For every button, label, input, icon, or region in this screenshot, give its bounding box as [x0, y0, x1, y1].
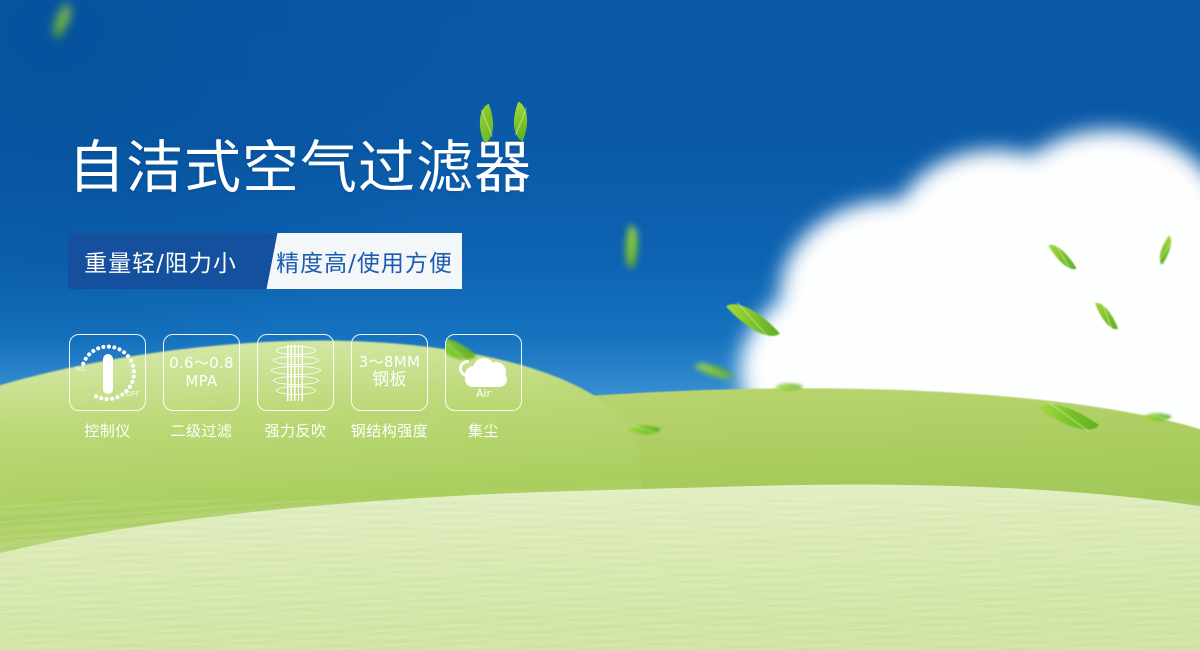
subtitle-right-segment: 精度高/使用方便 — [253, 233, 462, 289]
dial-on-label: NO — [76, 367, 86, 373]
feature-label: 控制仪 — [84, 420, 131, 441]
title-block: 自洁式空气过滤器 — [68, 140, 532, 197]
leaf-icon — [505, 102, 536, 142]
subtitle-bar: 重量轻/阻力小 精度高/使用方便 — [68, 233, 462, 289]
dial-needle-icon — [103, 354, 113, 394]
dial-gauge-icon: NO OFF — [77, 342, 139, 404]
feature-tile: NO OFF — [69, 334, 146, 411]
page-title: 自洁式空气过滤器 — [68, 140, 532, 197]
feature-item-control-dial[interactable]: NO OFF 控制仪 — [69, 334, 146, 441]
pressure-text-icon: 0.6～0.8 MPA — [169, 355, 234, 390]
steel-thickness-text-icon: 3～8MM 钢板 — [359, 354, 420, 391]
feature-label: 二级过滤 — [170, 420, 232, 441]
subtitle-left-segment: 重量轻/阻力小 — [68, 233, 253, 289]
pressure-unit: MPA — [169, 373, 234, 390]
sprout-leaves-icon — [477, 104, 537, 146]
feature-tile: Air — [445, 334, 522, 411]
feature-item-pressure[interactable]: 0.6～0.8 MPA 二级过滤 — [163, 334, 240, 441]
filter-stack-icon — [270, 345, 322, 401]
feature-item-steel[interactable]: 3～8MM 钢板 钢结构强度 — [351, 334, 428, 441]
grass-field — [0, 470, 1200, 650]
feature-tile: 3～8MM 钢板 — [351, 334, 428, 411]
feature-label: 钢结构强度 — [351, 420, 429, 441]
filter-core-icon — [287, 345, 305, 401]
grass-texture — [0, 500, 1200, 650]
air-label: Air — [455, 387, 513, 400]
feature-item-backblow[interactable]: 强力反吹 — [257, 334, 334, 441]
steel-thickness: 3～8MM — [359, 354, 420, 371]
steel-material: 钢板 — [359, 371, 420, 391]
feature-item-dust[interactable]: Air 集尘 — [445, 334, 522, 441]
hero-banner: 自洁式空气过滤器 重量轻/阻力小 精度高/使用方便 — [0, 0, 1200, 650]
feature-tile: 0.6～0.8 MPA — [163, 334, 240, 411]
air-cloud-icon: Air — [455, 348, 513, 398]
feature-label: 集尘 — [468, 420, 499, 441]
feature-label: 强力反吹 — [264, 420, 326, 441]
feature-tile — [257, 334, 334, 411]
dial-off-label: OFF — [126, 392, 139, 398]
pressure-range: 0.6～0.8 — [169, 355, 234, 372]
feature-list: NO OFF 控制仪 0.6～0.8 MPA 二级过滤 — [69, 334, 522, 441]
